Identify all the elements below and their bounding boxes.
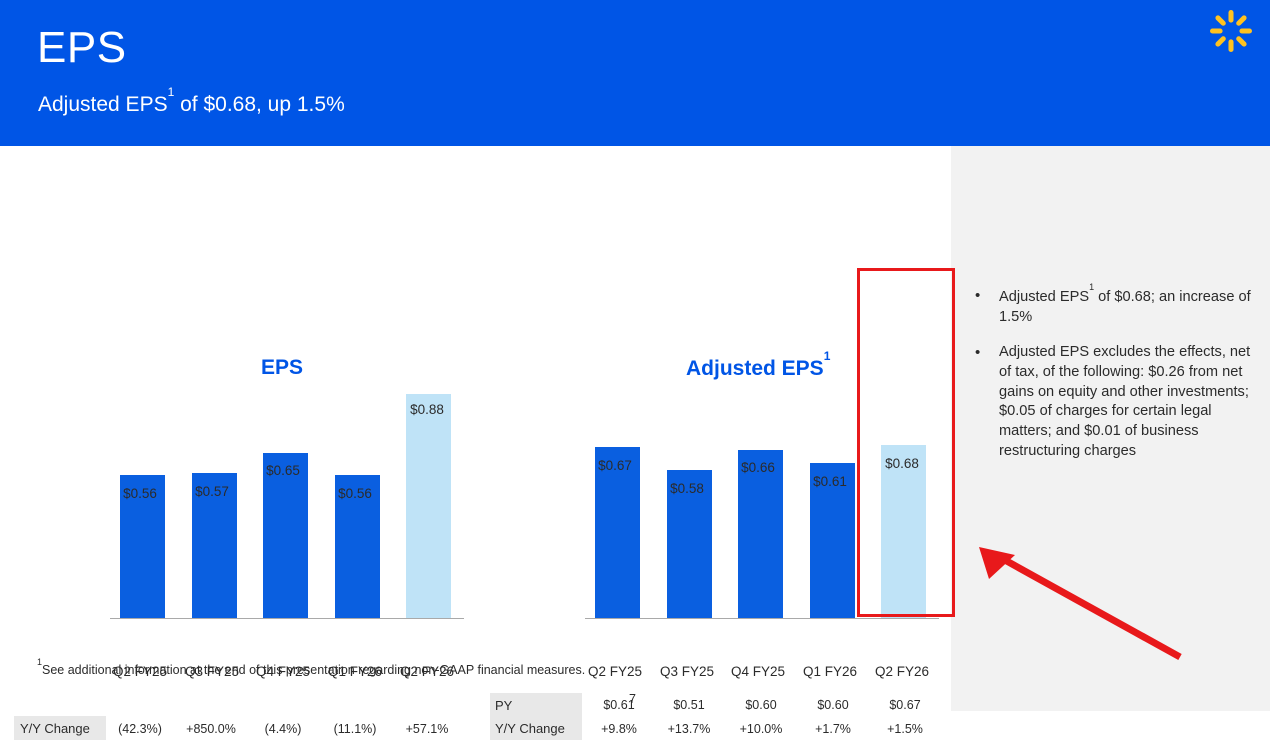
notes-bullet-list: • Adjusted EPS1 of $0.68; an increase of… bbox=[975, 286, 1260, 477]
cell-eps-yy-4: +57.1% bbox=[377, 722, 477, 736]
bar-value-label-adjeps-1: $0.58 bbox=[637, 481, 737, 496]
page-subtitle-footnote-marker: 1 bbox=[168, 85, 175, 99]
walmart-spark-logo bbox=[1210, 10, 1252, 52]
page-number: 7 bbox=[629, 692, 636, 706]
page-title: EPS bbox=[37, 26, 127, 70]
row-header-eps-yy: Y/Y Change bbox=[20, 721, 90, 736]
red-arrow-annotation bbox=[975, 545, 1195, 665]
footnote: 1See additional information at the end o… bbox=[37, 661, 585, 677]
bar-value-label-adjeps-0: $0.67 bbox=[565, 458, 665, 473]
slide-header: EPS Adjusted EPS1 of $0.68, up 1.5% bbox=[0, 0, 1270, 146]
cell-adjeps-yy-4: +1.5% bbox=[855, 722, 955, 736]
page-subtitle-pre: Adjusted EPS bbox=[38, 93, 168, 116]
bullet-text-pre: Adjusted EPS bbox=[999, 289, 1089, 305]
footnote-marker: 1 bbox=[37, 657, 42, 667]
x-axis-eps bbox=[110, 618, 464, 619]
page-subtitle: Adjusted EPS1 of $0.68, up 1.5% bbox=[38, 92, 345, 117]
bar-value-label-eps-3: $0.56 bbox=[305, 486, 405, 501]
footnote-text: See additional information at the end of… bbox=[42, 663, 585, 677]
bar-value-label-eps-2: $0.65 bbox=[233, 463, 333, 478]
x-tick-label-adjeps-4: Q2 FY26 bbox=[852, 664, 952, 679]
page-subtitle-post: of $0.68, up 1.5% bbox=[174, 93, 344, 116]
list-item: • Adjusted EPS excludes the effects, net… bbox=[975, 343, 1260, 461]
bullet-footnote-marker: 1 bbox=[1089, 282, 1094, 292]
bullet-dot-icon: • bbox=[975, 343, 980, 363]
bar-value-label-adjeps-2: $0.66 bbox=[708, 460, 808, 475]
row-header-adjeps-yy: Y/Y Change bbox=[495, 721, 565, 736]
bullet-dot-icon: • bbox=[975, 286, 980, 306]
list-item: • Adjusted EPS1 of $0.68; an increase of… bbox=[975, 286, 1260, 327]
bullet-text-pre: Adjusted EPS excludes the effects, net o… bbox=[999, 344, 1250, 458]
bar-adjeps-q4-fy25 bbox=[738, 450, 783, 618]
cell-adjeps-py-4: $0.67 bbox=[855, 698, 955, 712]
q2-fy26-callout-box bbox=[857, 268, 955, 617]
bar-value-label-eps-4: $0.88 bbox=[377, 402, 477, 417]
chart-plot-eps bbox=[110, 256, 470, 656]
charts-container: EPS $0.56 $0.57 $0.65 $0.56 $0.88 Q2 FY2… bbox=[0, 146, 951, 711]
x-axis-adjusted-eps bbox=[585, 618, 939, 619]
bar-value-label-eps-1: $0.57 bbox=[162, 484, 262, 499]
bar-eps-q2-fy26 bbox=[406, 394, 451, 618]
